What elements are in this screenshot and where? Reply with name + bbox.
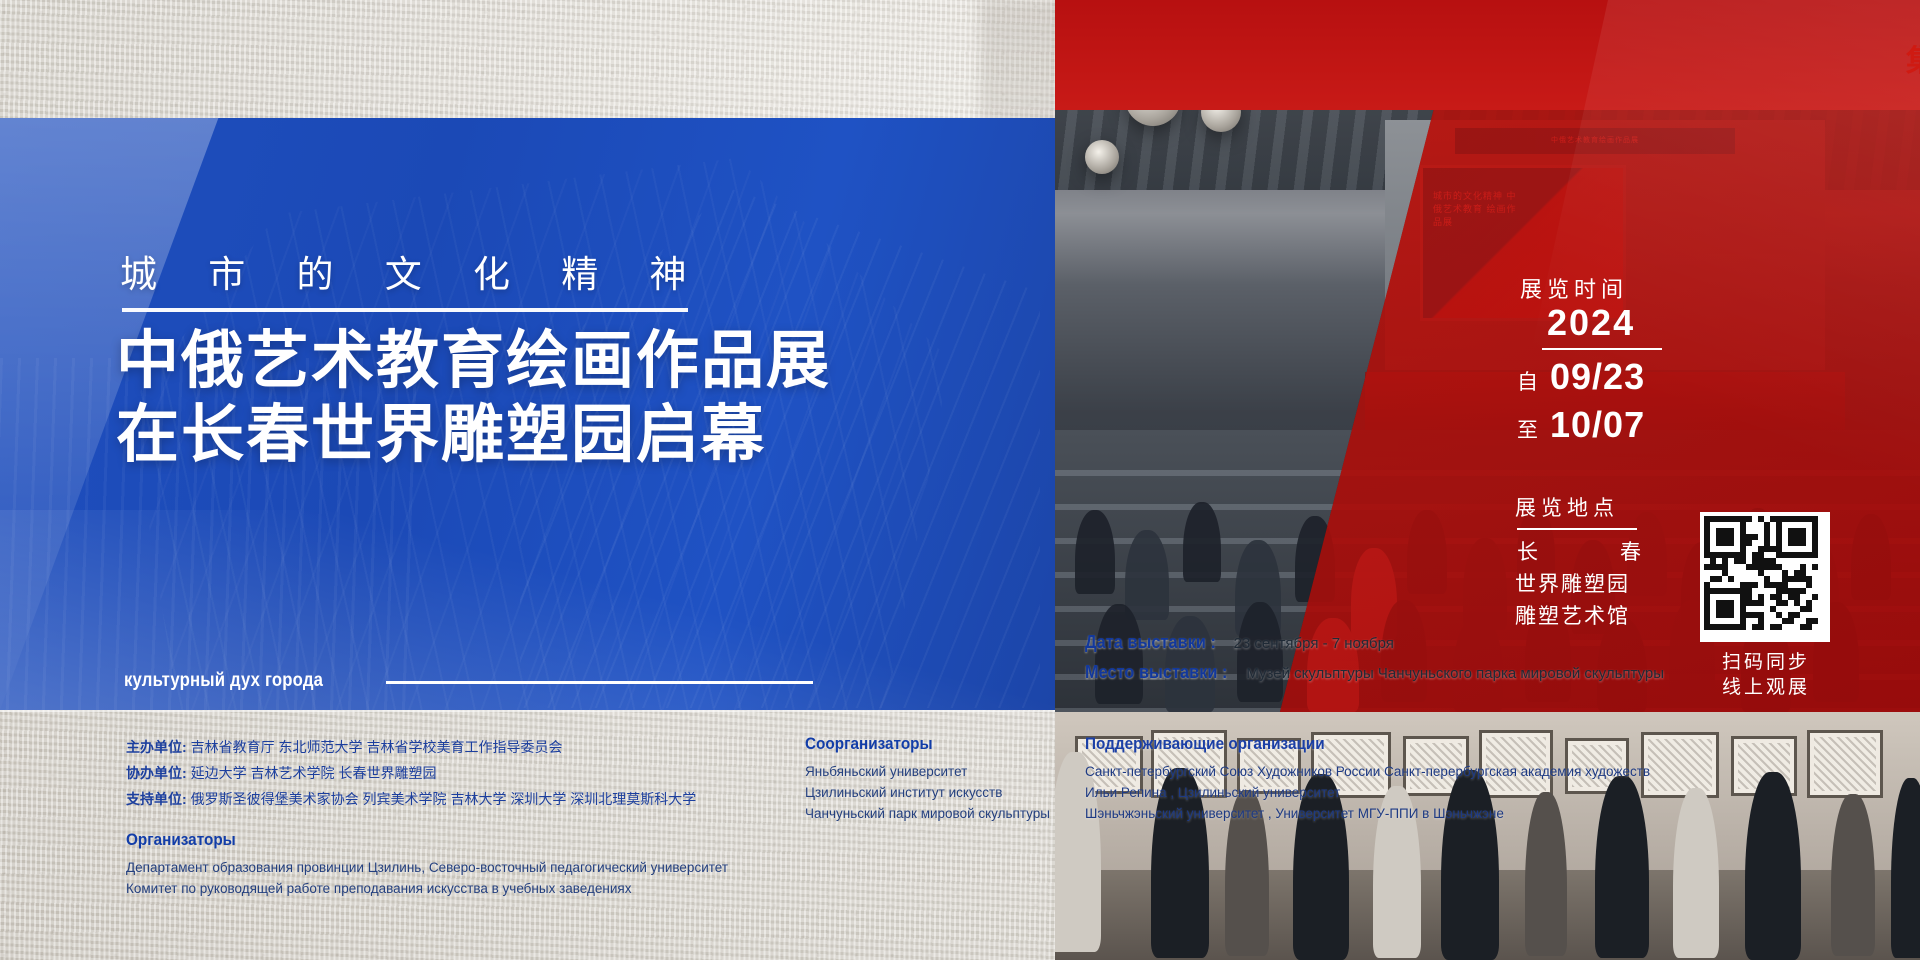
exhibition-venue-value: Музей скульптуры Чанчуньского парка миро… xyxy=(1246,665,1664,682)
exhibition-time-label: 展览时间 xyxy=(1520,272,1628,304)
list-item: Санкт-петербургский Союз Художников Росс… xyxy=(1085,761,1785,782)
credit-value: 俄罗斯圣彼得堡美术家协会 列宾美术学院 吉林大学 深圳大学 深圳北理莫斯科大学 xyxy=(191,791,697,807)
coorganizers-body: Яньбяньский университет Цзилиньский инст… xyxy=(805,761,1105,824)
place-line-3: 雕塑艺术馆 xyxy=(1515,600,1630,630)
place-city-first: 长 xyxy=(1517,536,1538,566)
credit-value: 延边大学 吉林艺术学院 长春世界雕塑园 xyxy=(191,765,437,781)
exhibition-venue-line: Место выставки :Музей скульптуры Чанчунь… xyxy=(1085,662,1605,683)
end-date: 10/07 xyxy=(1550,404,1645,445)
exhibition-date-label: Дата выставки : xyxy=(1085,632,1216,653)
exhibition-venue-label: Место выставки : xyxy=(1085,662,1228,683)
exhibition-date-value: 23 сентября - 7 ноября xyxy=(1234,635,1394,652)
qr-code[interactable] xyxy=(1700,512,1830,642)
list-item: Комитет по руководящей работе преподаван… xyxy=(126,878,846,899)
list-item: Департамент образования провинции Цзилин… xyxy=(126,857,846,878)
coorganizers-heading: Соорганизаторы xyxy=(805,734,933,754)
chinese-kicker: 城 市 的 文 化 精 神 xyxy=(120,244,708,298)
list-item: Цзилиньский институт искусств xyxy=(805,782,1105,803)
credit-row: 协办单位:延边大学 吉林艺术学院 长春世界雕塑园 xyxy=(126,760,846,786)
chinese-credits-block: 主办单位:吉林省教育厅 东北师范大学 吉林省学校美育工作指导委员会 协办单位:延… xyxy=(126,734,846,812)
start-label: 自 xyxy=(1517,370,1538,394)
credit-label: 主办单位: xyxy=(126,739,187,755)
exhibition-start-row: 自09/23 xyxy=(1517,356,1645,398)
end-label: 至 xyxy=(1517,418,1538,442)
qr-caption-line2: 线上观展 xyxy=(1703,675,1829,700)
exhibition-year: 2024 xyxy=(1547,302,1635,344)
credit-value: 吉林省教育厅 东北师范大学 吉林省学校美育工作指导委员会 xyxy=(191,739,563,755)
list-item: Яньбяньский университет xyxy=(805,761,1105,782)
blue-panel-content: 城 市 的 文 化 精 神 中俄艺术教育绘画作品展 在长春世界雕塑园启幕 кул… xyxy=(0,118,1055,710)
russian-kicker: культурный дух города xyxy=(124,670,323,692)
qr-code-modules xyxy=(1704,516,1818,630)
credit-row: 主办单位:吉林省教育厅 东北师范大学 吉林省学校美育工作指导委员会 xyxy=(126,734,846,760)
supporting-orgs-heading: Поддерживающие организации xyxy=(1085,734,1325,754)
red-info-panel: 展览时间 2024 自09/23 至10/07 展览地点 长 春 世界雕塑园 雕… xyxy=(1055,0,1920,712)
place-line-2: 世界雕塑园 xyxy=(1515,568,1630,598)
qr-caption-line1: 扫码同步 xyxy=(1703,650,1829,675)
credit-row: 支持单位:俄罗斯圣彼得堡美术家协会 列宾美术学院 吉林大学 深圳大学 深圳北理莫… xyxy=(126,786,846,812)
place-divider xyxy=(1517,528,1637,530)
organizers-body: Департамент образования провинции Цзилин… xyxy=(126,857,846,899)
qr-caption: 扫码同步 线上观展 xyxy=(1703,650,1829,700)
supporting-orgs-block: Поддерживающие организации Санкт-петербу… xyxy=(1085,734,1785,824)
list-item: Шэньчжэньский университет , Университет … xyxy=(1085,803,1785,824)
start-date: 09/23 xyxy=(1550,356,1645,397)
organizers-block: Организаторы Департамент образования про… xyxy=(126,830,846,899)
exhibition-date-line: Дата выставки :23 сентября - 7 ноября xyxy=(1085,632,1605,653)
russian-kicker-row: культурный дух города xyxy=(124,670,824,692)
exhibition-place-label: 展览地点 xyxy=(1515,492,1619,522)
place-line-1: 长 春 xyxy=(1517,536,1641,566)
credit-label: 协办单位: xyxy=(126,765,187,781)
organizers-heading: Организаторы xyxy=(126,830,236,850)
coorganizers-block: Соорганизаторы Яньбяньский университет Ц… xyxy=(805,734,1105,824)
exhibition-info-strip: Дата выставки :23 сентября - 7 ноября Ме… xyxy=(1085,632,1605,692)
exhibition-end-row: 至10/07 xyxy=(1517,404,1645,446)
blue-title-panel: 城 市 的 文 化 精 神 中俄艺术教育绘画作品展 在长春世界雕塑园启幕 кул… xyxy=(0,118,1055,710)
russian-kicker-divider xyxy=(386,681,813,684)
chinese-title: 中俄艺术教育绘画作品展 在长春世界雕塑园启幕 xyxy=(116,324,1016,472)
time-divider xyxy=(1542,348,1662,350)
qr-center-logo: 集 xyxy=(1906,36,1920,80)
list-item: Чанчуньский парк мировой скульптуры xyxy=(805,803,1105,824)
supporting-orgs-body: Санкт-петербургский Союз Художников Росс… xyxy=(1085,761,1785,824)
place-city-second: 春 xyxy=(1620,536,1641,566)
list-item: Ильи Репина , Цзилиньский университет xyxy=(1085,782,1785,803)
footer-credits: 主办单位:吉林省教育厅 东北师范大学 吉林省学校美育工作指导委员会 协办单位:延… xyxy=(0,712,1920,960)
credit-label: 支持单位: xyxy=(126,791,187,807)
chinese-title-line2: 在长春世界雕塑园启幕 xyxy=(116,398,1016,472)
kicker-divider xyxy=(122,308,688,312)
poster-root: 中俄艺术教育绘画作品展 城市的文化精神 中俄艺术教育 绘画作品展 xyxy=(0,0,1920,960)
chinese-title-line1: 中俄艺术教育绘画作品展 xyxy=(116,324,1016,398)
